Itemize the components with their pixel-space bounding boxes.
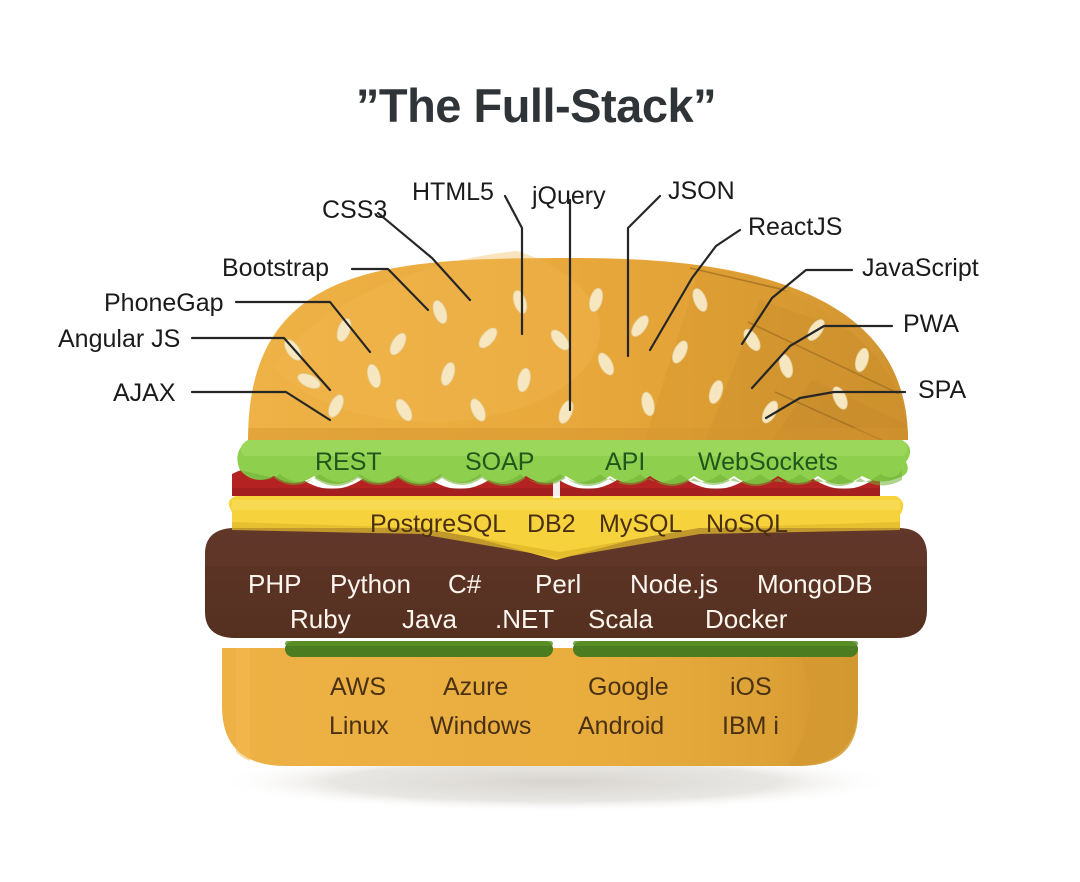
callout-label-spa: SPA bbox=[918, 378, 966, 403]
cheese-item-mysql: MySQL bbox=[599, 512, 682, 537]
patty-item-nodejs: Node.js bbox=[630, 571, 718, 597]
bun-item-google: Google bbox=[588, 675, 669, 700]
bun-item-windows: Windows bbox=[430, 714, 531, 739]
bun-item-linux: Linux bbox=[329, 714, 389, 739]
cheese-item-postgresql: PostgreSQL bbox=[370, 512, 506, 537]
patty-item-perl: Perl bbox=[535, 571, 581, 597]
patty-item-php: PHP bbox=[248, 571, 301, 597]
lettuce-item-api: API bbox=[605, 450, 645, 475]
patty-item-python: Python bbox=[330, 571, 411, 597]
bun-item-azure: Azure bbox=[443, 675, 508, 700]
callout-label-bootstrap: Bootstrap bbox=[222, 256, 329, 281]
lettuce-item-websockets: WebSockets bbox=[698, 450, 838, 475]
patty-item-dotnet: .NET bbox=[495, 606, 554, 632]
callout-label-reactjs: ReactJS bbox=[748, 215, 842, 240]
patty-item-ruby: Ruby bbox=[290, 606, 351, 632]
cheese-item-nosql: NoSQL bbox=[706, 512, 788, 537]
callout-label-pwa: PWA bbox=[903, 312, 959, 337]
callout-label-phonegap: PhoneGap bbox=[104, 291, 224, 316]
page-title: ”The Full-Stack” bbox=[0, 78, 1076, 133]
lettuce-item-soap: SOAP bbox=[465, 450, 534, 475]
bun-item-aws: AWS bbox=[330, 675, 386, 700]
patty-item-csharp: C# bbox=[448, 571, 481, 597]
callout-label-css3: CSS3 bbox=[322, 198, 387, 223]
callout-label-angular-js: Angular JS bbox=[58, 327, 180, 352]
bun-item-ibm-i: IBM i bbox=[722, 714, 779, 739]
lettuce-item-rest: REST bbox=[315, 450, 382, 475]
bun-item-ios: iOS bbox=[730, 675, 772, 700]
cheese-item-db2: DB2 bbox=[527, 512, 576, 537]
callout-label-ajax: AJAX bbox=[113, 381, 176, 406]
full-stack-infographic: ”The Full-Stack” CSS3 Bootstrap PhoneGap… bbox=[0, 0, 1080, 882]
bun-item-android: Android bbox=[578, 714, 664, 739]
patty-item-docker: Docker bbox=[705, 606, 787, 632]
callout-label-javascript: JavaScript bbox=[862, 256, 979, 281]
patty-item-java: Java bbox=[402, 606, 457, 632]
callout-label-html5: HTML5 bbox=[412, 180, 494, 205]
callout-label-json: JSON bbox=[668, 179, 735, 204]
patty-item-scala: Scala bbox=[588, 606, 653, 632]
bottom-bun-shape bbox=[222, 640, 900, 772]
patty-item-mongodb: MongoDB bbox=[757, 571, 873, 597]
callout-label-jquery: jQuery bbox=[532, 184, 606, 209]
top-bun-shape bbox=[240, 238, 940, 460]
